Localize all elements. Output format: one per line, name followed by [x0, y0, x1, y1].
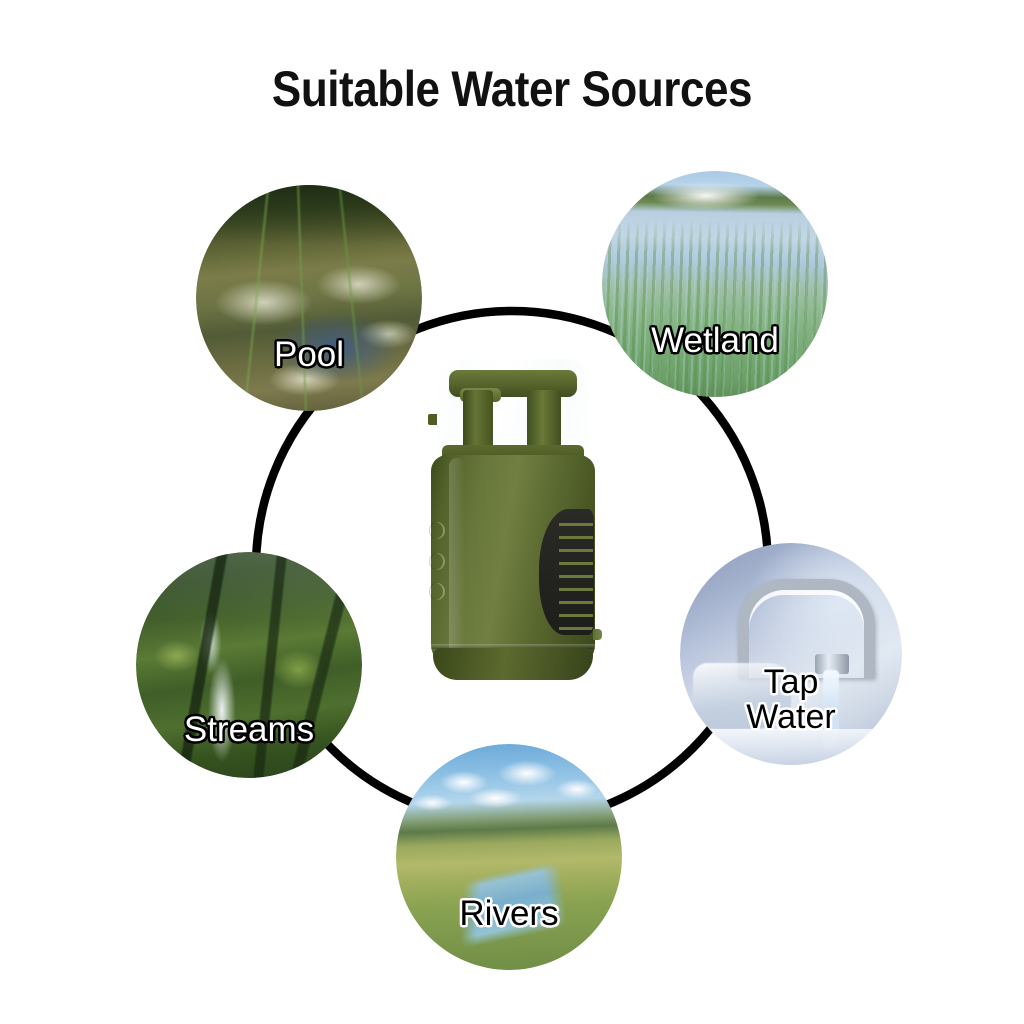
product-release-tab [593, 629, 602, 640]
water-filter-product [424, 358, 602, 680]
node-label-pool: Pool [196, 337, 422, 373]
node-tap-water[interactable]: Tap Water [680, 543, 902, 765]
node-label-wetland: Wetland [602, 323, 828, 359]
node-pool[interactable]: Pool [196, 185, 422, 411]
product-base [433, 648, 593, 680]
product-dimple-2 [429, 553, 445, 570]
product-grip-ridges [559, 513, 593, 632]
river-photo-icon [396, 744, 622, 970]
node-label-tap-water: Tap Water [680, 665, 902, 734]
marsh-photo-icon [602, 171, 828, 397]
product-side-nub [428, 414, 437, 424]
product-body-highlight [449, 458, 465, 658]
node-label-rivers: Rivers [396, 896, 622, 932]
node-wetland[interactable]: Wetland [602, 171, 828, 397]
infographic-canvas: Suitable Water Sources Pool Wetland Tap … [0, 0, 1024, 1024]
node-rivers[interactable]: Rivers [396, 744, 622, 970]
node-streams[interactable]: Streams [136, 552, 362, 778]
pond-photo-icon [196, 185, 422, 411]
node-label-streams: Streams [136, 712, 362, 748]
